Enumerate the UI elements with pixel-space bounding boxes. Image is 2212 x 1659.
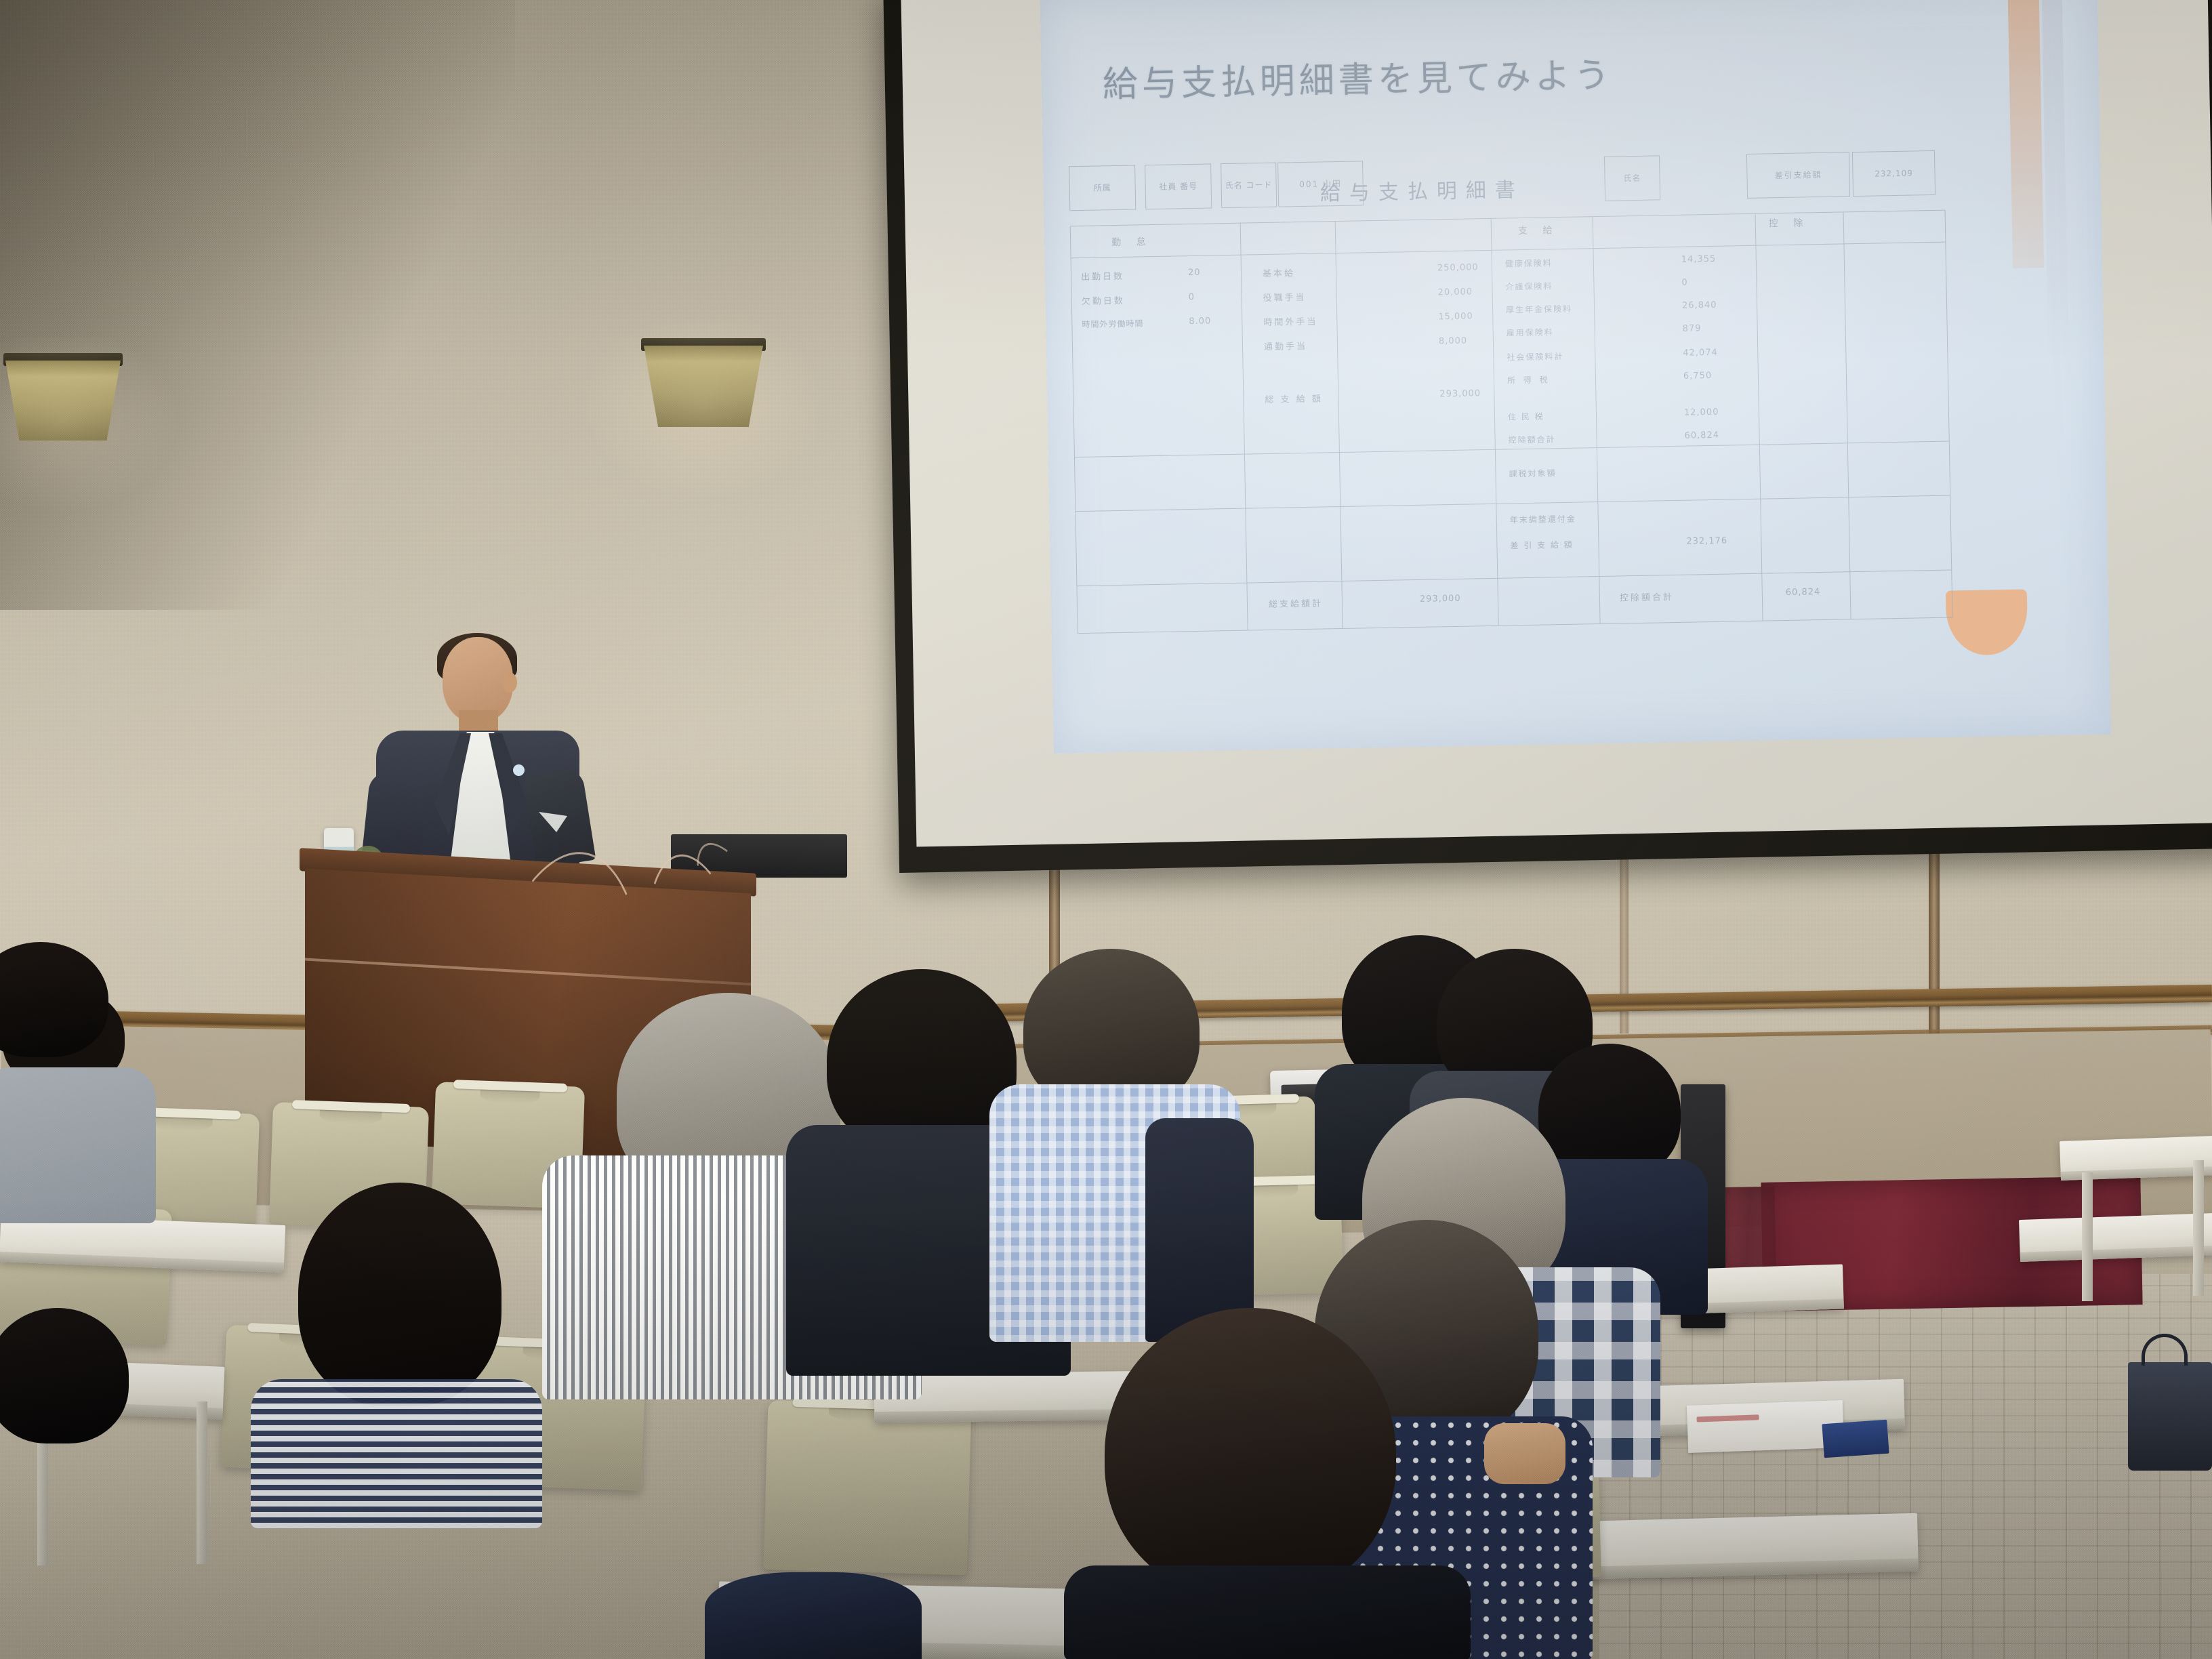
slide-accent-band-grey [2041,0,2068,356]
payslip-vline-4 [1593,217,1601,623]
payslip-vline-1 [1240,224,1248,630]
handbag [2128,1362,2212,1471]
payslip-earning-label-2: 時間外手当 [1263,314,1317,328]
payslip-deduction-label-0: 健康保険料 [1505,257,1553,269]
payslip-attendance-label-0: 出勤日数 [1081,269,1124,283]
payslip-earning-value-0: 250,000 [1437,262,1479,273]
payslip-note-label-0: 課税対象額 [1509,467,1556,479]
payslip-right-box-value: 232,109 [1852,150,1935,197]
wall-sconce-left [5,361,121,441]
presenter-ear [502,672,517,693]
payslip-deduction-label-6: 住 民 税 [1508,410,1544,422]
presentation-slide: 給与支払明細書を見てみよう 所属 社員 番号 氏名 コード 001 山田 氏名 … [1040,0,2110,754]
sconce-shade-left [5,361,121,441]
payslip-deduction-value-5: 6,750 [1683,371,1712,382]
presenter-lapel-pin [513,764,525,776]
payslip-earning-label-3: 通勤手当 [1264,339,1307,352]
payslip-attendance-label-2: 時間外労働時間 [1082,317,1143,330]
chair-f1 [764,1400,972,1575]
payslip-earning-value-1: 20,000 [1437,287,1473,298]
payslip-vline-3 [1491,219,1499,626]
photograph-scene: 給与支払明細書を見てみよう 所属 社員 番号 氏名 コード 001 山田 氏名 … [0,0,2212,1659]
floor-tiles [1599,1274,2212,1659]
table-leg-right-2 [2193,1160,2204,1296]
payslip-attendance-value-2: 8.00 [1189,316,1211,327]
payslip-footer-left-value: 293,000 [1420,594,1461,605]
folder-label [1696,1414,1759,1422]
payslip-deduction-value-7: 60,824 [1684,430,1719,441]
document-folder [1687,1400,1844,1453]
blue-notebook [1822,1420,1889,1458]
payslip-deduction-label-7: 控除額合計 [1508,433,1555,445]
attendee-a2-hair [298,1183,501,1406]
attendee-a13-hair [0,1308,129,1443]
attendee-a2-torso [251,1379,542,1528]
payslip-group-earnings: 支 給 [1518,223,1559,237]
payslip-vline-2 [1335,222,1343,628]
payslip-right-box-label: 差引支給額 [1746,152,1850,199]
payslip-deduction-label-3: 雇用保険料 [1507,326,1554,338]
table-leg-left-2 [197,1401,207,1564]
slide-accent-blob [1946,589,2028,655]
attendee-a12-hair [0,942,108,1057]
payslip-deduction-value-6: 12,000 [1684,407,1719,418]
payslip-document-title: 給与支払明細書 [1319,173,1524,207]
attendee-a5 [976,949,1247,1342]
payslip-deduction-value-0: 14,355 [1681,254,1717,265]
payslip-note-label-1: 年末調整還付金 [1510,513,1576,526]
chair-notch [319,1103,382,1124]
payslip-box-1: 社員 番号 [1145,163,1212,209]
payslip-deduction-value-1: 0 [1681,278,1688,288]
payslip-earning-value-2: 15,000 [1438,311,1473,322]
attendee-a14-hair [705,1572,922,1659]
payslip-box-2: 氏名 コード [1221,163,1277,208]
table-back-right-2 [2019,1213,2212,1262]
payslip-earning-label-0: 基本給 [1263,266,1295,279]
slide-title: 給与支払明細書を見てみよう [1102,47,1614,107]
payslip-earning-total-value: 293,000 [1439,388,1481,399]
attendee-a11-hair [1105,1308,1396,1599]
attendee-a13 [0,1308,142,1477]
payslip-footer-left-label: 総支給額計 [1269,596,1323,610]
payslip-hline-notes [1076,495,1950,512]
screen-surface: 給与支払明細書を見てみよう 所属 社員 番号 氏名 コード 001 山田 氏名 … [901,0,2212,847]
payslip-earning-value-3: 8,000 [1439,336,1467,347]
payslip-deduction-label-5: 所 得 税 [1507,373,1551,386]
payslip-box-0: 所属 [1069,165,1136,211]
payslip-hline-bottom [1077,570,1951,587]
payslip-grid: 勤 怠 支 給 控 除 出勤日数 20 欠勤日数 0 時間外労働時間 8.00 … [1070,210,1953,634]
payslip-footer-right-label: 控除額合計 [1620,590,1674,603]
payslip-attendance-label-1: 欠勤日数 [1082,293,1125,307]
attendee-a11 [1050,1308,1471,1659]
attendee-a12 [0,942,122,1091]
attendee-a14 [705,1572,922,1659]
payslip-deduction-label-4: 社会保険料計 [1507,350,1563,363]
payslip-hline-top [1071,242,1946,259]
presenter-figure [369,637,586,874]
sconce-shade-right [644,346,763,427]
payslip-deduction-label-2: 厚生年金保険料 [1506,303,1572,316]
payslip-vline-5 [1755,214,1763,621]
payslip-note-label-2: 差 引 支 給 額 [1510,539,1574,552]
table-leg-right-1 [2082,1172,2093,1301]
payslip-footer-right-value: 60,824 [1786,587,1821,598]
wall-corner-shadow [0,0,515,610]
attendee-a10-hand [1484,1423,1565,1484]
payslip-earning-label-1: 役職手当 [1263,290,1307,304]
payslip-note-value-2: 232,176 [1686,536,1727,547]
payslip-group-deduction: 控 除 [1769,216,1809,230]
payslip-table: 所属 社員 番号 氏名 コード 001 山田 氏名 差引支給額 232,109 … [1069,148,1952,638]
wall-sconce-right [644,346,763,427]
attendee-a2 [251,1183,542,1521]
payslip-earning-total-label: 総 支 給 額 [1265,391,1323,405]
payslip-group-attendance: 勤 怠 [1111,234,1152,249]
slide-accent-band [2007,0,2044,268]
payslip-deduction-value-3: 879 [1683,323,1702,334]
payslip-vline-6 [1843,212,1851,619]
payslip-deduction-label-1: 介護保険料 [1505,280,1553,292]
attendee-a11-torso [1064,1565,1471,1659]
projection-screen: 給与支払明細書を見てみよう 所属 社員 番号 氏名 コード 001 山田 氏名 … [883,0,2212,873]
payslip-box-3: 氏名 [1604,155,1660,201]
payslip-attendance-value-0: 20 [1188,268,1201,278]
payslip-deduction-value-4: 42,074 [1683,348,1718,359]
payslip-deduction-value-2: 26,840 [1682,300,1717,311]
payslip-attendance-value-1: 0 [1189,292,1195,302]
